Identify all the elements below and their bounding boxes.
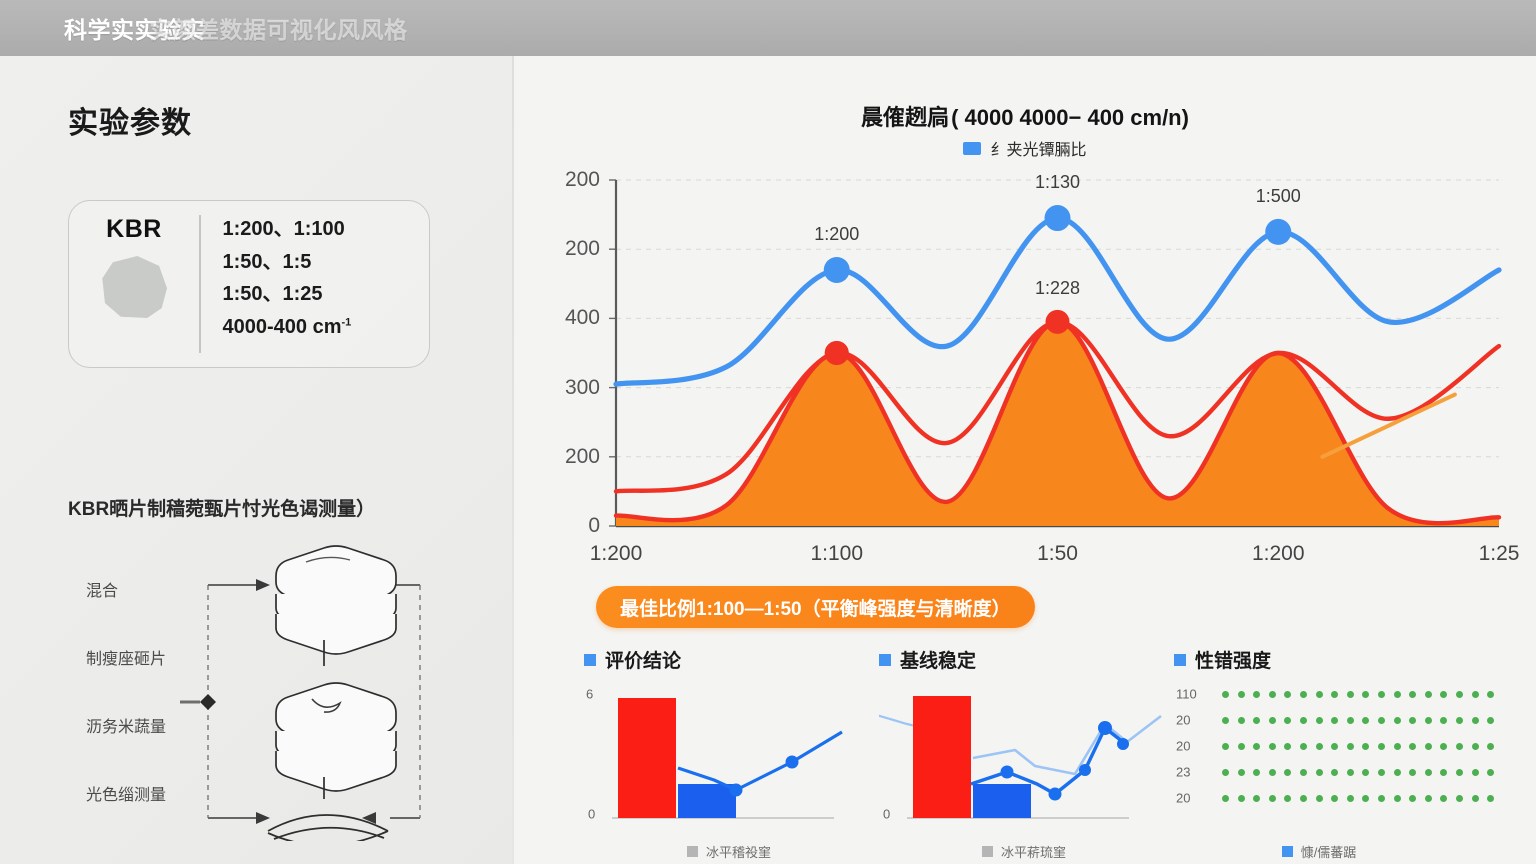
heatmap-dot [1394, 717, 1401, 724]
heatmap-dot [1253, 769, 1260, 776]
peak-value-label: 1:228 [1035, 278, 1080, 299]
heatmap-dot [1456, 717, 1463, 724]
panel-chart-area: 6 0 [584, 686, 874, 836]
app-header: 科学实实验实实颜差数据可视化风风格 [0, 0, 1536, 56]
bar-blue [678, 784, 736, 818]
material-label: KBR [106, 215, 162, 244]
panel-bullet-icon [879, 654, 891, 666]
panel-header: 评价结论 [584, 646, 874, 673]
heatmap-dot [1425, 795, 1432, 802]
parameter-row: 1:50、1:5 [223, 248, 430, 278]
heatmap-dot [1347, 795, 1354, 802]
chart-title-prefix: 晨傕趔扃 [861, 105, 949, 130]
panel-legend-swatch-icon [982, 846, 993, 857]
heatmap-dot [1394, 691, 1401, 698]
panel-header: 性错强度 [1174, 646, 1464, 673]
bottom-panels: 评价结论 6 0 冰平稽祋窐 [584, 646, 1504, 864]
panel-legend: 慷/儒蕃踞 [1174, 842, 1464, 861]
heatmap-dot [1456, 691, 1463, 698]
heatmap-dot [1331, 769, 1338, 776]
dot-row [1222, 743, 1494, 750]
panel-bullet-icon [584, 654, 596, 666]
heatmap-dot [1362, 769, 1369, 776]
heatmap-dot [1269, 691, 1276, 698]
panel-title: 基线稳定 [900, 646, 976, 673]
heatmap-dot [1316, 743, 1323, 750]
heatmap-dot [1456, 743, 1463, 750]
y-axis-tick: 200 [554, 237, 600, 261]
right-panel: 晨傕趔扃( 4000 4000− 400 cm/n) 纟夹光镡脼比 200200… [514, 56, 1536, 864]
heatmap-dot [1425, 743, 1432, 750]
dot-row [1222, 717, 1494, 724]
heatmap-dot [1472, 717, 1479, 724]
heatmap-dot [1269, 743, 1276, 750]
heatmap-dot [1394, 743, 1401, 750]
heatmap-dot [1425, 717, 1432, 724]
heatmap-dot [1316, 691, 1323, 698]
heatmap-dot [1456, 769, 1463, 776]
heatmap-dot [1222, 795, 1229, 802]
heatmap-dot [1362, 691, 1369, 698]
heatmap-dot [1425, 769, 1432, 776]
dot-row [1222, 691, 1494, 698]
heatmap-dot [1472, 743, 1479, 750]
heatmap-dot [1394, 795, 1401, 802]
process-diagram: 混合 制瘦座砸片 沥务米蔬量 光色缁测量 [60, 541, 480, 841]
heatmap-dot [1487, 795, 1494, 802]
heatmap-dot [1316, 769, 1323, 776]
heatmap-dot [1331, 691, 1338, 698]
heatmap-dot [1238, 769, 1245, 776]
page-body: 实验参数 KBR 1:200、1:100 1:50、1:5 1:50、1:25 … [0, 56, 1536, 864]
panel-baseline: 基线稳定 0 [879, 646, 1169, 864]
peak-value-label: 1:500 [1256, 186, 1301, 207]
heatmap-dot [1347, 743, 1354, 750]
heatmap-dot [1487, 769, 1494, 776]
highlight-banner: 最佳比例1:100—1:50（平衡峰强度与清晰度） [596, 586, 1035, 628]
chart-title-range: ( 4000 4000− 400 cm/n) [951, 105, 1189, 130]
bar-blue [973, 784, 1031, 818]
trend-line [678, 732, 842, 790]
bar-red [618, 698, 676, 818]
heatmap-dot [1284, 691, 1291, 698]
dot-row [1222, 795, 1494, 802]
panel-legend-swatch-icon [1282, 846, 1293, 857]
heatmap-dot [1331, 795, 1338, 802]
section-title: 实验参数 [68, 98, 192, 142]
heatmap-dot [1378, 743, 1385, 750]
parameter-row-text: 4000-400 cm [223, 316, 342, 338]
x-axis-tick: 1:200 [1252, 542, 1305, 566]
chart-legend: 纟夹光镡脼比 [514, 136, 1536, 160]
peak-value-label: 1:200 [814, 224, 859, 245]
heatmap-dot [1378, 691, 1385, 698]
heatmap-dot [1300, 691, 1307, 698]
bar-red [913, 696, 971, 818]
heatmap-dot [1269, 769, 1276, 776]
dot-row-label: 20 [1176, 713, 1190, 728]
heatmap-dot [1284, 743, 1291, 750]
main-spectral-chart: 20020040030020001:2001:1001:501:2001:251… [554, 174, 1504, 574]
heatmap-dot [1331, 717, 1338, 724]
heatmap-dot [1331, 743, 1338, 750]
parameter-row: 4000-400 cm-1 [223, 313, 430, 343]
heatmap-dot [1362, 743, 1369, 750]
heatmap-dot [1222, 691, 1229, 698]
heatmap-dot [1300, 717, 1307, 724]
heatmap-dot [1300, 769, 1307, 776]
dot-row-label: 20 [1176, 791, 1190, 806]
panel-legend: 冰平菥琉窐 [879, 842, 1169, 861]
trend-line-secondary [973, 716, 1161, 774]
y-axis-tick: 200 [554, 168, 600, 192]
heatmap-dot [1487, 717, 1494, 724]
panel-chart-area: 0 [879, 686, 1169, 836]
panel-legend: 冰平稽祋窐 [584, 842, 874, 861]
heatmap-dot [1222, 743, 1229, 750]
parameter-list: 1:200、1:100 1:50、1:5 1:50、1:25 4000-400 … [201, 201, 430, 367]
heatmap-dot [1440, 717, 1447, 724]
y-axis-tick: 400 [554, 306, 600, 330]
heatmap-dot [1440, 795, 1447, 802]
heatmap-dot [1316, 717, 1323, 724]
heatmap-dot [1253, 743, 1260, 750]
panel-legend-label: 冰平菥琉窐 [1001, 842, 1066, 861]
y-axis-tick: 200 [554, 445, 600, 469]
panel-title: 评价结论 [605, 646, 681, 673]
material-block: KBR [69, 201, 199, 367]
heatmap-dot [1487, 691, 1494, 698]
panel-legend-label: 冰平稽祋窐 [706, 842, 771, 861]
legend-label: 纟夹光镡脼比 [990, 136, 1086, 160]
y-axis-tick: 300 [554, 376, 600, 400]
x-axis-tick: 1:100 [810, 542, 863, 566]
heatmap-dot [1253, 717, 1260, 724]
x-axis-tick: 1:25 [1479, 542, 1520, 566]
x-axis-tick: 1:50 [1037, 542, 1078, 566]
heatmap-dot [1409, 769, 1416, 776]
dot-row-label: 23 [1176, 765, 1190, 780]
heatmap-dot [1394, 769, 1401, 776]
dot-row-label: 20 [1176, 739, 1190, 754]
heatmap-dot [1347, 691, 1354, 698]
panel-header: 基线稳定 [879, 646, 1169, 673]
panel-legend-swatch-icon [687, 846, 698, 857]
heatmap-dot [1409, 743, 1416, 750]
heatmap-dot [1440, 769, 1447, 776]
heatmap-dot [1222, 769, 1229, 776]
heatmap-dot [1409, 717, 1416, 724]
y-axis-tick: 0 [554, 514, 600, 538]
heatmap-dot [1440, 691, 1447, 698]
parameter-row: 1:50、1:25 [223, 280, 430, 310]
heatmap-dot [1284, 795, 1291, 802]
page-title: 科学实实验实实颜差数据可视化风风格 [64, 11, 408, 45]
panel-bar-svg [584, 686, 874, 836]
panel-dot-matrix: 11020202320 [1174, 686, 1464, 836]
peak-value-label: 1:130 [1035, 172, 1080, 193]
heatmap-dot [1253, 691, 1260, 698]
chart-title: 晨傕趔扃( 4000 4000− 400 cm/n) [514, 100, 1536, 132]
unit-superscript: -1 [341, 316, 351, 328]
parameters-card: KBR 1:200、1:100 1:50、1:5 1:50、1:25 4000-… [68, 200, 430, 368]
heatmap-dot [1378, 795, 1385, 802]
page-title-ghost: 实颜差数据可视化风风格 [149, 17, 408, 43]
main-chart-svg [554, 174, 1504, 574]
heatmap-dot [1378, 717, 1385, 724]
heatmap-dot [1253, 795, 1260, 802]
heatmap-dot [1472, 769, 1479, 776]
heatmap-dot [1222, 717, 1229, 724]
panel-legend-label: 慷/儒蕃踞 [1301, 842, 1357, 861]
rock-icon [101, 256, 167, 318]
heatmap-dot [1238, 691, 1245, 698]
heatmap-dot [1472, 795, 1479, 802]
panel-title: 性错强度 [1195, 646, 1271, 673]
panel-bullet-icon [1174, 654, 1186, 666]
dot-row [1222, 769, 1494, 776]
heatmap-dot [1238, 717, 1245, 724]
dot-row-label: 110 [1176, 687, 1197, 702]
x-axis-tick: 1:200 [590, 542, 643, 566]
heatmap-dot [1362, 795, 1369, 802]
heatmap-dot [1425, 691, 1432, 698]
process-flow-illustration [60, 541, 480, 841]
heatmap-dot [1362, 717, 1369, 724]
heatmap-dot [1347, 769, 1354, 776]
heatmap-dot [1269, 717, 1276, 724]
heatmap-dot [1300, 795, 1307, 802]
heatmap-dot [1300, 743, 1307, 750]
heatmap-dot [1269, 795, 1276, 802]
heatmap-dot [1440, 743, 1447, 750]
heatmap-dot [1238, 743, 1245, 750]
panel-evaluation: 评价结论 6 0 冰平稽祋窐 [584, 646, 874, 864]
left-panel: 实验参数 KBR 1:200、1:100 1:50、1:5 1:50、1:25 … [0, 56, 513, 864]
heatmap-dot [1316, 795, 1323, 802]
heatmap-dot [1347, 717, 1354, 724]
heatmap-dot [1284, 769, 1291, 776]
heatmap-dot [1456, 795, 1463, 802]
heatmap-dot [1238, 795, 1245, 802]
heatmap-dot [1487, 743, 1494, 750]
heatmap-dot [1284, 717, 1291, 724]
panel-bar-svg [879, 686, 1169, 836]
panel-intensity: 性错强度 11020202320 慷/儒蕃踞 [1174, 646, 1464, 864]
heatmap-dot [1409, 691, 1416, 698]
parameter-row: 1:200、1:100 [223, 215, 430, 245]
heatmap-dot [1409, 795, 1416, 802]
heatmap-dot [1378, 769, 1385, 776]
heatmap-dot [1472, 691, 1479, 698]
process-title: KBR晒片制穑菀甄片忖光色谒测量） [68, 494, 375, 521]
legend-swatch-icon [963, 142, 981, 155]
